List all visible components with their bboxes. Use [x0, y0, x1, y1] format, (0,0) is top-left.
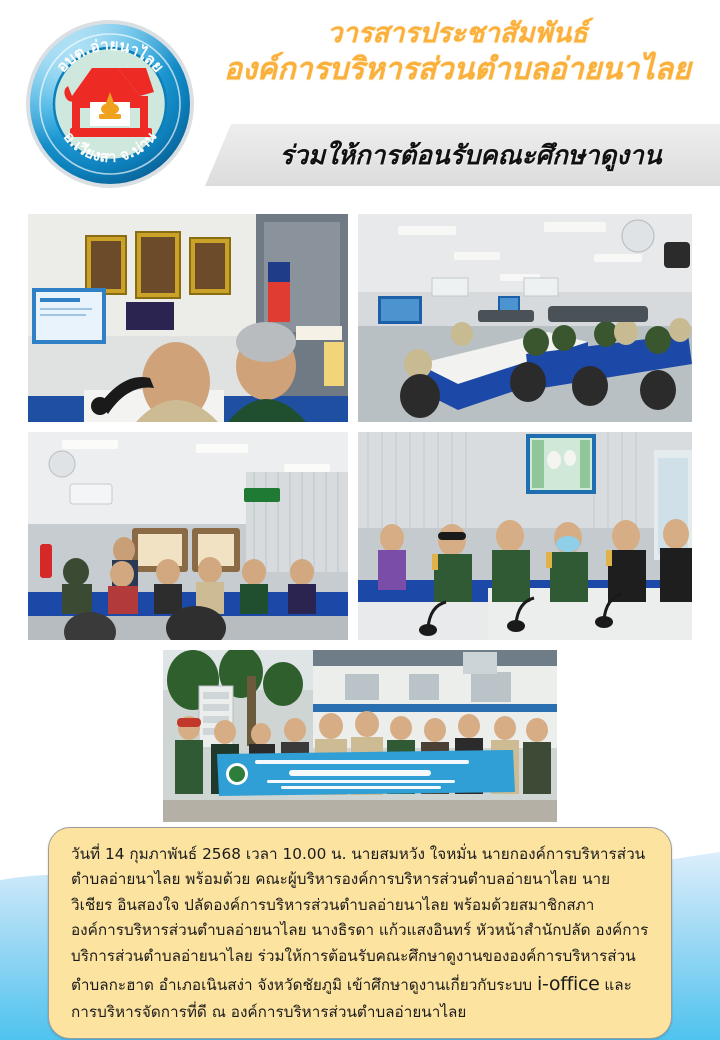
- gallery-photo-3[interactable]: [28, 432, 348, 640]
- caption-paragraph: วันที่ 14 กุมภาพันธ์ 2568 เวลา 10.00 น. …: [71, 842, 651, 1026]
- organization-logo: อบต.อ่ายนาไลย อ.เวียงสา จ.น่าน อบต.อ่ายน…: [22, 16, 198, 192]
- organization-name-line2: องค์การบริหารส่วนตำบลอ่ายนาไลย: [205, 52, 710, 87]
- logo-bottom-text: อ.เวียงสา จ.น่าน: [22, 192, 23, 193]
- page-header: อบต.อ่ายนาไลย อ.เวียงสา จ.น่าน อบต.อ่ายน…: [0, 0, 720, 205]
- gallery-photo-2[interactable]: [358, 214, 692, 422]
- caption-text-latin: i-office: [537, 973, 600, 995]
- caption-text-thai-1: วันที่ 14 กุมภาพันธ์ 2568 เวลา 10.00 น. …: [71, 845, 648, 994]
- gallery-photo-5[interactable]: [163, 650, 557, 822]
- journal-title-line1: วารสารประชาสัมพันธ์: [205, 18, 710, 50]
- subtitle-text: ร่วมให้การต้อนรับคณะศึกษาดูงาน: [257, 135, 667, 176]
- photo-gallery: [0, 205, 720, 825]
- gallery-photo-1[interactable]: [28, 214, 348, 422]
- gallery-photo-4[interactable]: [358, 432, 692, 640]
- subtitle-banner: ร่วมให้การต้อนรับคณะศึกษาดูงาน: [205, 124, 720, 186]
- header-title-group: วารสารประชาสัมพันธ์ องค์การบริหารส่วนตำบ…: [205, 18, 710, 87]
- logo-top-text: อบต.อ่ายนาไลย: [22, 192, 23, 193]
- caption-card: วันที่ 14 กุมภาพันธ์ 2568 เวลา 10.00 น. …: [48, 827, 672, 1039]
